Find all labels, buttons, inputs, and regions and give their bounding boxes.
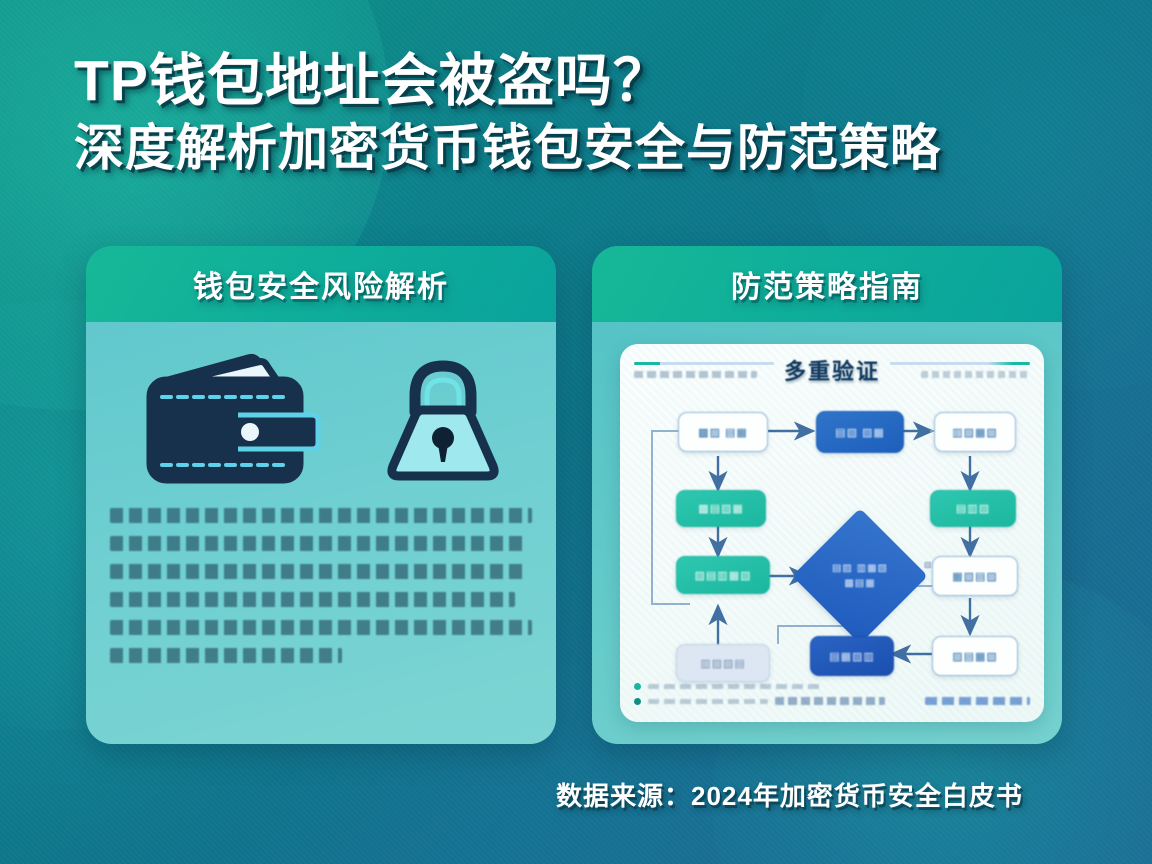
text-line [110,648,342,663]
placeholder-text [925,697,1030,705]
risk-card-body [86,322,556,744]
padlock-icon [383,350,503,490]
text-line [110,592,515,607]
flow-node: ▥▨▧▤ [676,644,770,682]
placeholder-text [634,371,757,378]
placeholder-text [648,699,768,704]
flow-decision-label: ▤▨ ▥▦▧▩▤▦ [805,561,915,591]
flow-node: ▤▥▨ [930,490,1016,527]
placeholder-text [921,371,1030,378]
flow-node: ▨▤▦▧ [932,636,1018,676]
risk-card-header: 钱包安全风险解析 [86,246,556,322]
strategy-card-body: 多重验证 [592,322,1062,744]
wallet-icon [140,350,325,490]
risk-card-paragraph [110,508,532,663]
panel-header-left-decoration [634,362,774,378]
flowchart: ▩▨ ▤▦ ▤▧ ▨▦ ▥▨▦▧ ▩▤▧▦ ▤▥▨ ▨▤▥▦▧ ▤▨ ▥▦▧▩▤… [630,398,1034,698]
flowchart-title: 多重验证 [784,354,880,386]
risk-card-icons [86,322,556,490]
flow-node: ▨▤▥▦▧ [676,556,770,594]
panel-header: 多重验证 [620,344,1044,396]
legend-dot-icon [634,698,641,705]
flow-node: ▥▨▦▧ [934,412,1016,452]
flow-node: ▤▧ ▨▦ [816,411,904,453]
flowchart-panel: 多重验证 [620,344,1044,722]
flow-node: ▩▨ ▤▦ [678,412,768,452]
text-line [110,620,532,635]
divider [890,362,1030,365]
source-note: 数据来源：2024年加密货币安全白皮书 [556,776,1023,813]
text-line [110,564,528,579]
text-line [110,508,532,523]
flow-node: ▩▤▧▦ [676,490,766,527]
risk-card-title: 钱包安全风险解析 [193,262,449,306]
panel-header-right-decoration [890,362,1030,378]
strategy-card: 防范策略指南 多重验证 [592,246,1062,744]
flowchart-legend [634,683,1030,712]
infographic-poster: TP钱包地址会被盗吗？ 深度解析加密货币钱包安全与防范策略 钱包安全风险解析 [0,0,1152,864]
strategy-card-title: 防范策略指南 [731,262,923,306]
divider [634,362,774,365]
strategy-card-header: 防范策略指南 [592,246,1062,322]
flow-node: ▦▧▤▨ [932,556,1018,596]
legend-item [634,683,1030,690]
risk-card: 钱包安全风险解析 [86,246,556,744]
text-line [110,536,524,551]
page-title: TP钱包地址会被盗吗？ 深度解析加密货币钱包安全与防范策略 [74,52,1094,174]
headline-line-1: TP钱包地址会被盗吗？ [74,52,1094,112]
legend-dot-icon [634,683,641,690]
flow-node: ▤▦▨▥ [810,636,894,676]
placeholder-text [775,697,885,705]
headline-line-2: 深度解析加密货币钱包安全与防范策略 [74,122,1094,175]
placeholder-text [648,684,823,689]
